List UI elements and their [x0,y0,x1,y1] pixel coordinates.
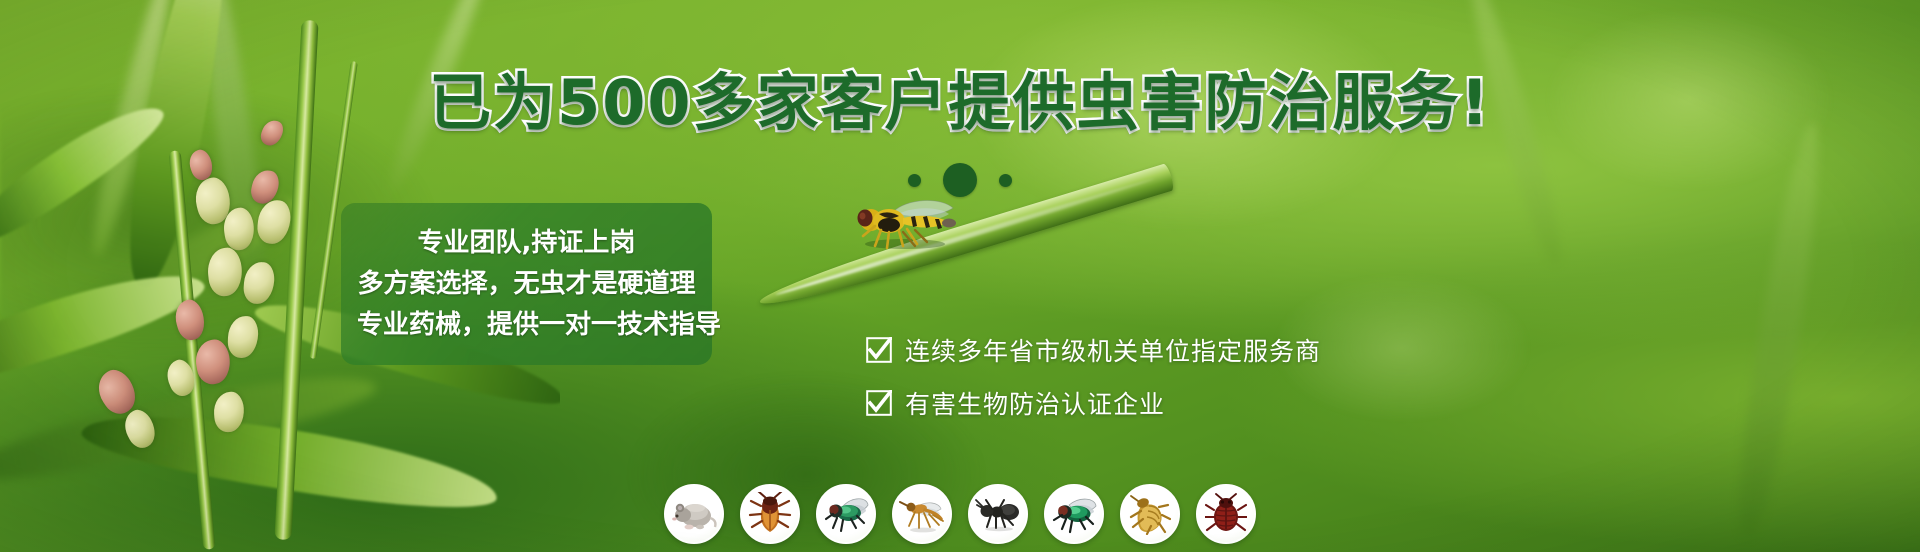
greenbottle-fly-icon[interactable] [1044,484,1104,544]
decor-dot-small-left [908,174,921,187]
plant-bud-10 [227,315,258,358]
selling-point-line-1: 专业团队,持证上岗 [357,225,696,263]
list-item: 连续多年省市级机关单位指定服务商 [866,332,1321,368]
plant-bud-6 [206,246,245,297]
cockroach-icon[interactable] [740,484,800,544]
mosquito-icon[interactable] [892,484,952,544]
credential-label: 连续多年省市级机关单位指定服务商 [905,332,1321,368]
credential-label: 有害生物防治认证企业 [905,385,1165,421]
decor-dots-group [0,163,1920,197]
checkbox-checked-icon [866,337,892,363]
plant-bud-5 [256,198,292,245]
checkbox-checked-icon [866,390,892,416]
credentials-checklist: 连续多年省市级机关单位指定服务商 有害生物防治认证企业 [866,332,1321,421]
page-title: 已为500多家客户提供虫害防治服务! [0,72,1920,134]
selling-points-panel: 专业团队,持证上岗 多方案选择，无虫才是硬道理 专业药械，提供一对一技术指导 [341,203,712,365]
hoverfly-icon [845,196,965,252]
rat-icon[interactable] [664,484,724,544]
pest-icons-row [0,484,1920,544]
ant-icon[interactable] [968,484,1028,544]
pest-control-hero-banner: 已为500多家客户提供虫害防治服务! 专业团队,持证上岗 多方案选择，无虫才是硬… [0,0,1920,552]
flea-icon[interactable] [1120,484,1180,544]
housefly-icon[interactable] [816,484,876,544]
decor-dot-small-right [999,174,1012,187]
selling-point-line-3: 专业药械，提供一对一技术指导 [357,307,696,345]
page-title-text: 已为500多家客户提供虫害防治服务! [429,66,1491,139]
bedbug-icon[interactable] [1196,484,1256,544]
plant-bud-7 [243,261,276,305]
selling-point-line-2: 多方案选择，无虫才是硬道理 [357,266,696,304]
list-item: 有害生物防治认证企业 [866,385,1321,421]
decor-dot-large-center [943,163,977,197]
